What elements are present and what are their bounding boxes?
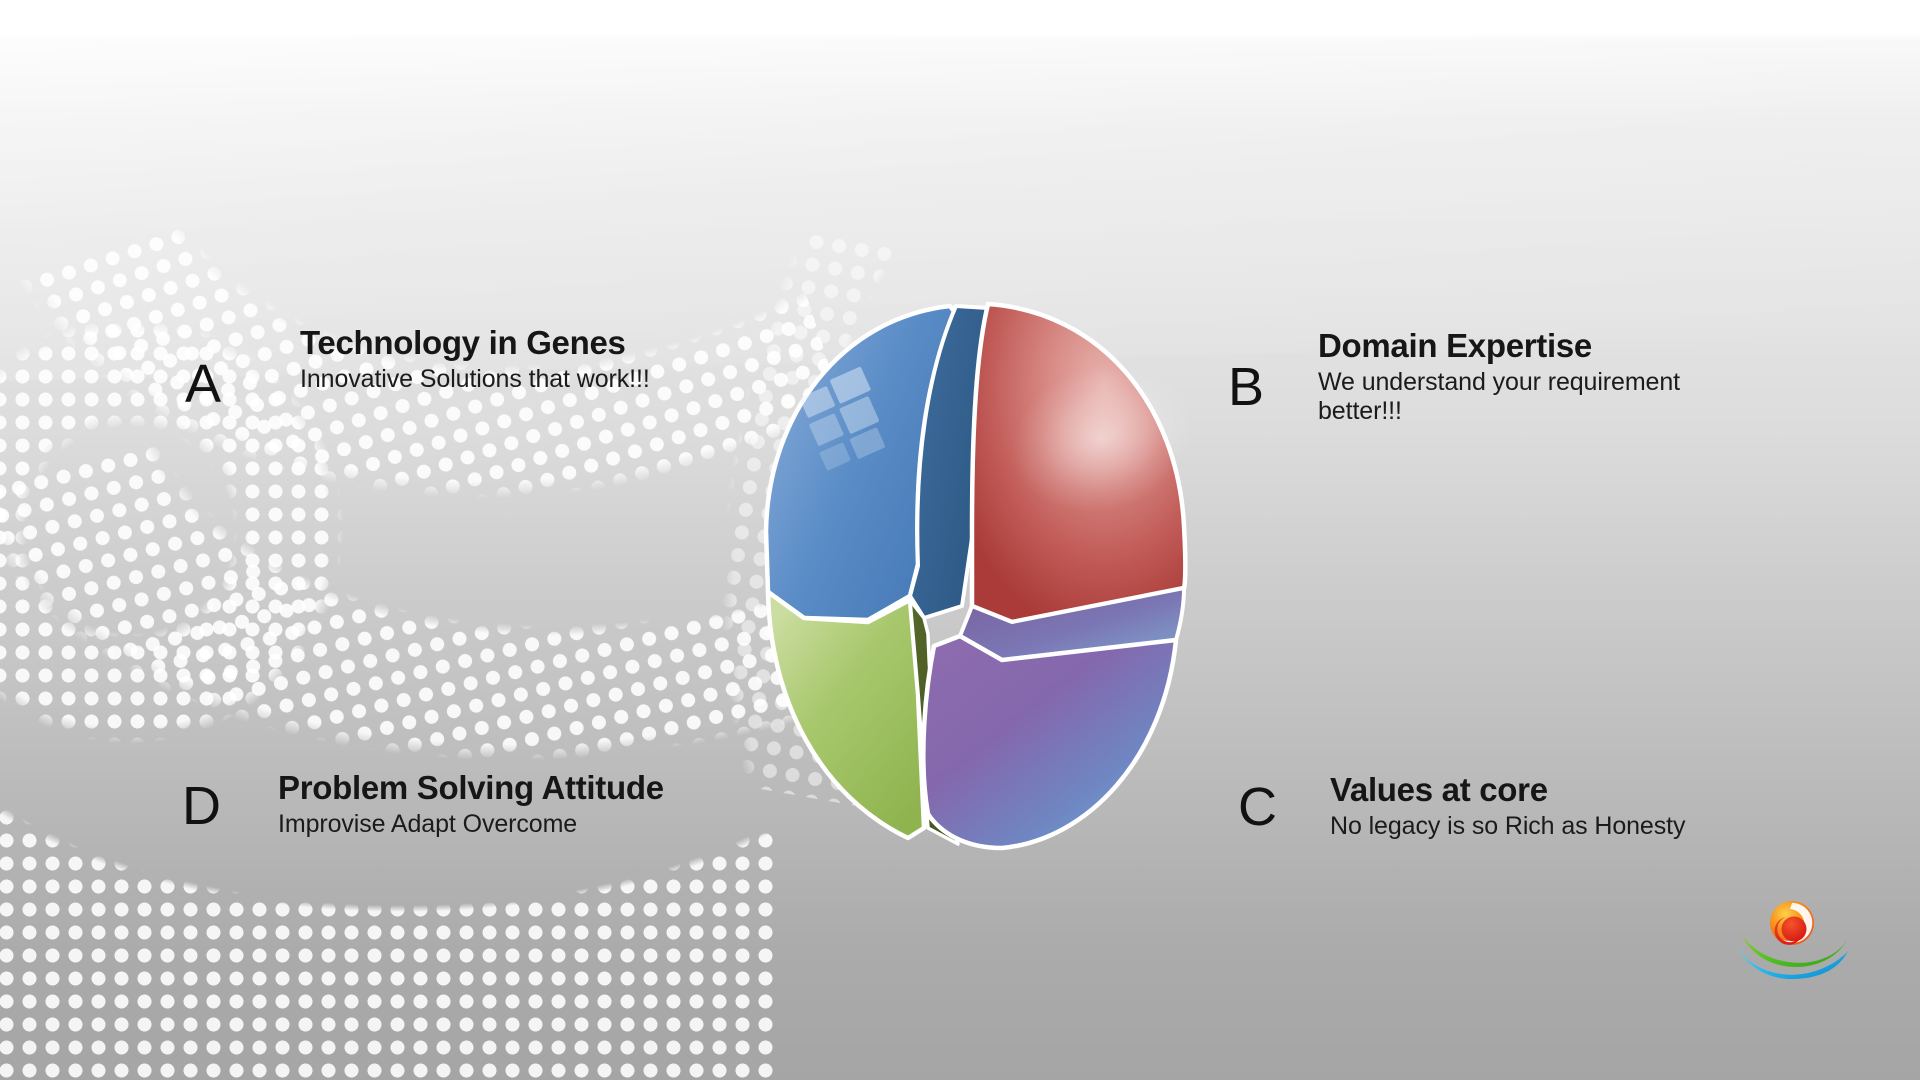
quadrant-a-subtitle: Innovative Solutions that work!!! [300, 365, 680, 394]
quadrant-text-d: Problem Solving Attitude Improvise Adapt… [278, 770, 748, 839]
quadrant-a-title: Technology in Genes [300, 325, 680, 362]
quadrant-b-title: Domain Expertise [1318, 328, 1738, 365]
slide-canvas: A Technology in Genes Innovative Solutio… [0, 0, 1920, 1080]
quadrant-marker-a: A [185, 357, 221, 411]
quadrant-c-subtitle: No legacy is so Rich as Honesty [1330, 812, 1780, 841]
quadrant-marker-d: D [182, 779, 221, 833]
quadrant-text-a: Technology in Genes Innovative Solutions… [300, 325, 680, 394]
sphere-segment-green [768, 592, 924, 838]
segmented-sphere-diagram [672, 288, 1252, 868]
quadrant-d-subtitle: Improvise Adapt Overcome [278, 810, 748, 839]
company-logo [1736, 893, 1854, 979]
quadrant-marker-c: C [1238, 780, 1277, 834]
quadrant-text-c: Values at core No legacy is so Rich as H… [1330, 772, 1780, 841]
quadrant-text-b: Domain Expertise We understand your requ… [1318, 328, 1738, 426]
sphere-segment-purple [923, 636, 1176, 848]
quadrant-marker-b: B [1228, 360, 1264, 414]
quadrant-b-subtitle: We understand your requirement better!!! [1318, 368, 1738, 427]
quadrant-c-title: Values at core [1330, 772, 1780, 809]
quadrant-d-title: Problem Solving Attitude [278, 770, 748, 807]
